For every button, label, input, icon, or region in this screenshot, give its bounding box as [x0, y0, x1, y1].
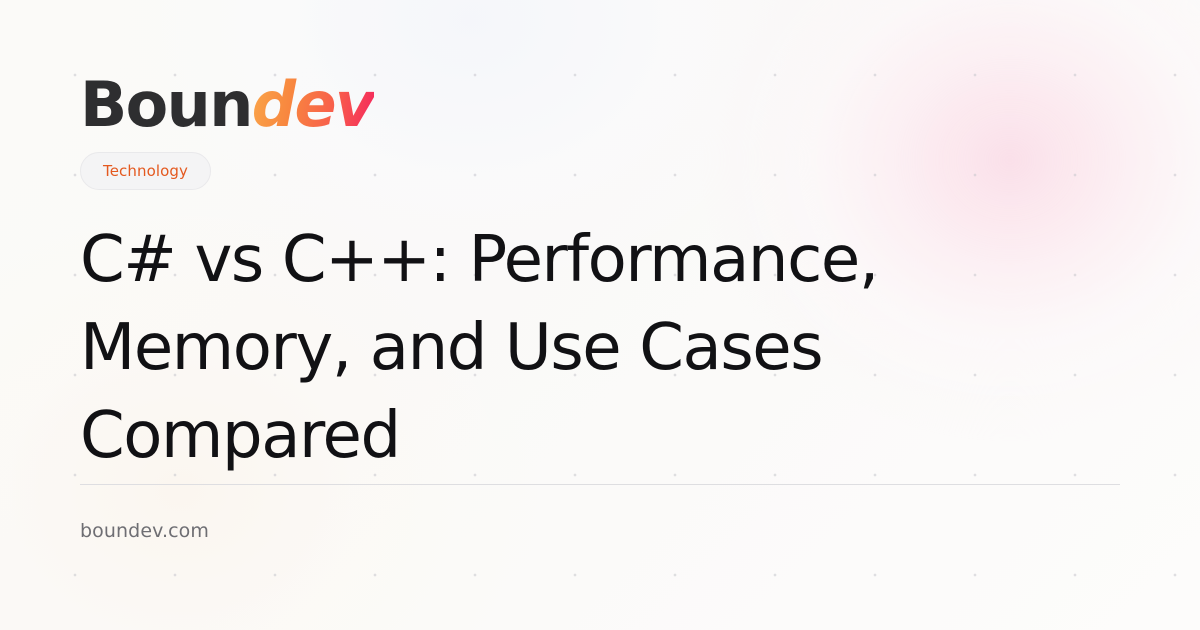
category-badge-label: Technology: [103, 162, 188, 180]
category-badge[interactable]: Technology: [80, 152, 211, 190]
page-title-line-3: Compared: [80, 392, 980, 480]
site-url: boundev.com: [80, 520, 209, 542]
brand-logo-primary: Boun: [80, 68, 252, 141]
page-title-line-2: Memory, and Use Cases: [80, 304, 980, 392]
brand-logo-accent: dev: [252, 68, 374, 141]
page-title-line-1: C# vs C++: Performance,: [80, 216, 980, 304]
brand-logo: Boundev: [80, 74, 374, 136]
footer-divider: [80, 484, 1120, 485]
page-title: C# vs C++: Performance, Memory, and Use …: [80, 216, 980, 480]
og-card-content: Boundev Technology C# vs C++: Performanc…: [0, 0, 1200, 630]
